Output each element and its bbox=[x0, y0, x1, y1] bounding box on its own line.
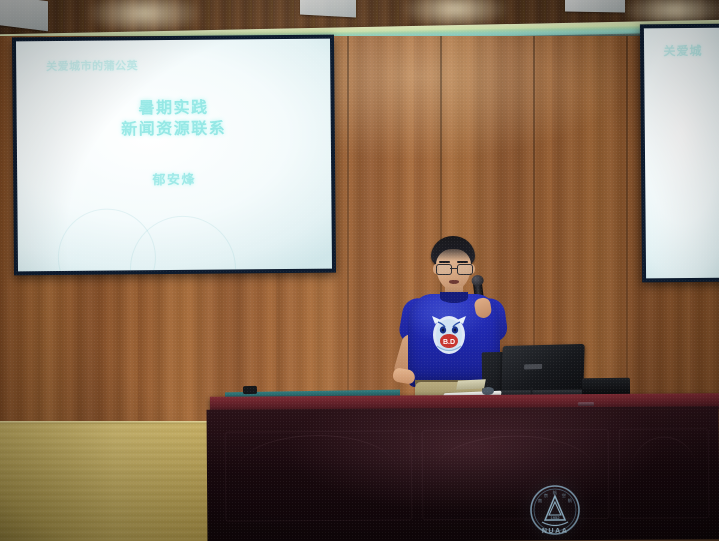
ceiling-panel bbox=[565, 0, 625, 13]
left-screen-surface: 关爱城市的蒲公英 暑期实践 新闻资源联系 郁安烽 bbox=[16, 39, 332, 272]
slide-watermark-ring bbox=[130, 215, 237, 271]
right-slide-header-text: 关爱城 bbox=[663, 42, 702, 59]
svg-text:空: 空 bbox=[562, 492, 566, 498]
right-screen-surface: 关爱城 bbox=[644, 28, 719, 279]
glasses-lens-left bbox=[436, 264, 452, 275]
slide-author-name: 郁安烽 bbox=[17, 167, 331, 189]
ceiling-panel bbox=[300, 0, 356, 17]
tiger-head-graphic: B.D bbox=[429, 314, 469, 358]
microphone-head bbox=[470, 274, 483, 286]
svg-text:航: 航 bbox=[553, 489, 558, 496]
left-projection-screen: 关爱城市的蒲公英 暑期实践 新闻资源联系 郁安烽 bbox=[12, 35, 336, 276]
eyebrow-left bbox=[439, 261, 450, 263]
emblem-year-text: 1952 bbox=[551, 515, 561, 520]
glasses-lens-right bbox=[457, 264, 473, 275]
wall-panel-seam bbox=[626, 36, 628, 430]
glasses-bridge bbox=[450, 268, 457, 269]
eyebrow-right bbox=[457, 261, 468, 263]
slide-title-line-1: 暑期实践 bbox=[17, 96, 331, 120]
podium-handle bbox=[578, 402, 594, 406]
slide-title-line-2: 新闻资源联系 bbox=[17, 118, 331, 142]
glasses-icon bbox=[436, 264, 472, 274]
asus-logo bbox=[524, 364, 542, 369]
podium-front-panel bbox=[207, 406, 719, 541]
svg-text:B.D: B.D bbox=[443, 339, 455, 346]
mouth bbox=[449, 280, 459, 284]
wall-panel-seam bbox=[347, 36, 349, 430]
papers-on-desk bbox=[456, 379, 486, 390]
slide-header-text: 关爱城市的蒲公英 bbox=[46, 58, 138, 75]
svg-text:南: 南 bbox=[538, 497, 542, 503]
lecture-hall-photo: 关爱城市的蒲公英 暑期实践 新闻资源联系 郁安烽 关爱城 bbox=[0, 0, 719, 541]
desk-small-device bbox=[243, 386, 257, 394]
right-projection-screen: 关爱城 bbox=[640, 24, 719, 283]
tshirt-collar bbox=[440, 292, 468, 303]
svg-text:京: 京 bbox=[544, 492, 548, 499]
slide-title: 暑期实践 新闻资源联系 bbox=[17, 96, 331, 142]
emblem-acronym-text: NUAA bbox=[542, 528, 569, 535]
nuaa-university-emblem: NUAA 1952 南京 航空 航 bbox=[524, 482, 586, 540]
